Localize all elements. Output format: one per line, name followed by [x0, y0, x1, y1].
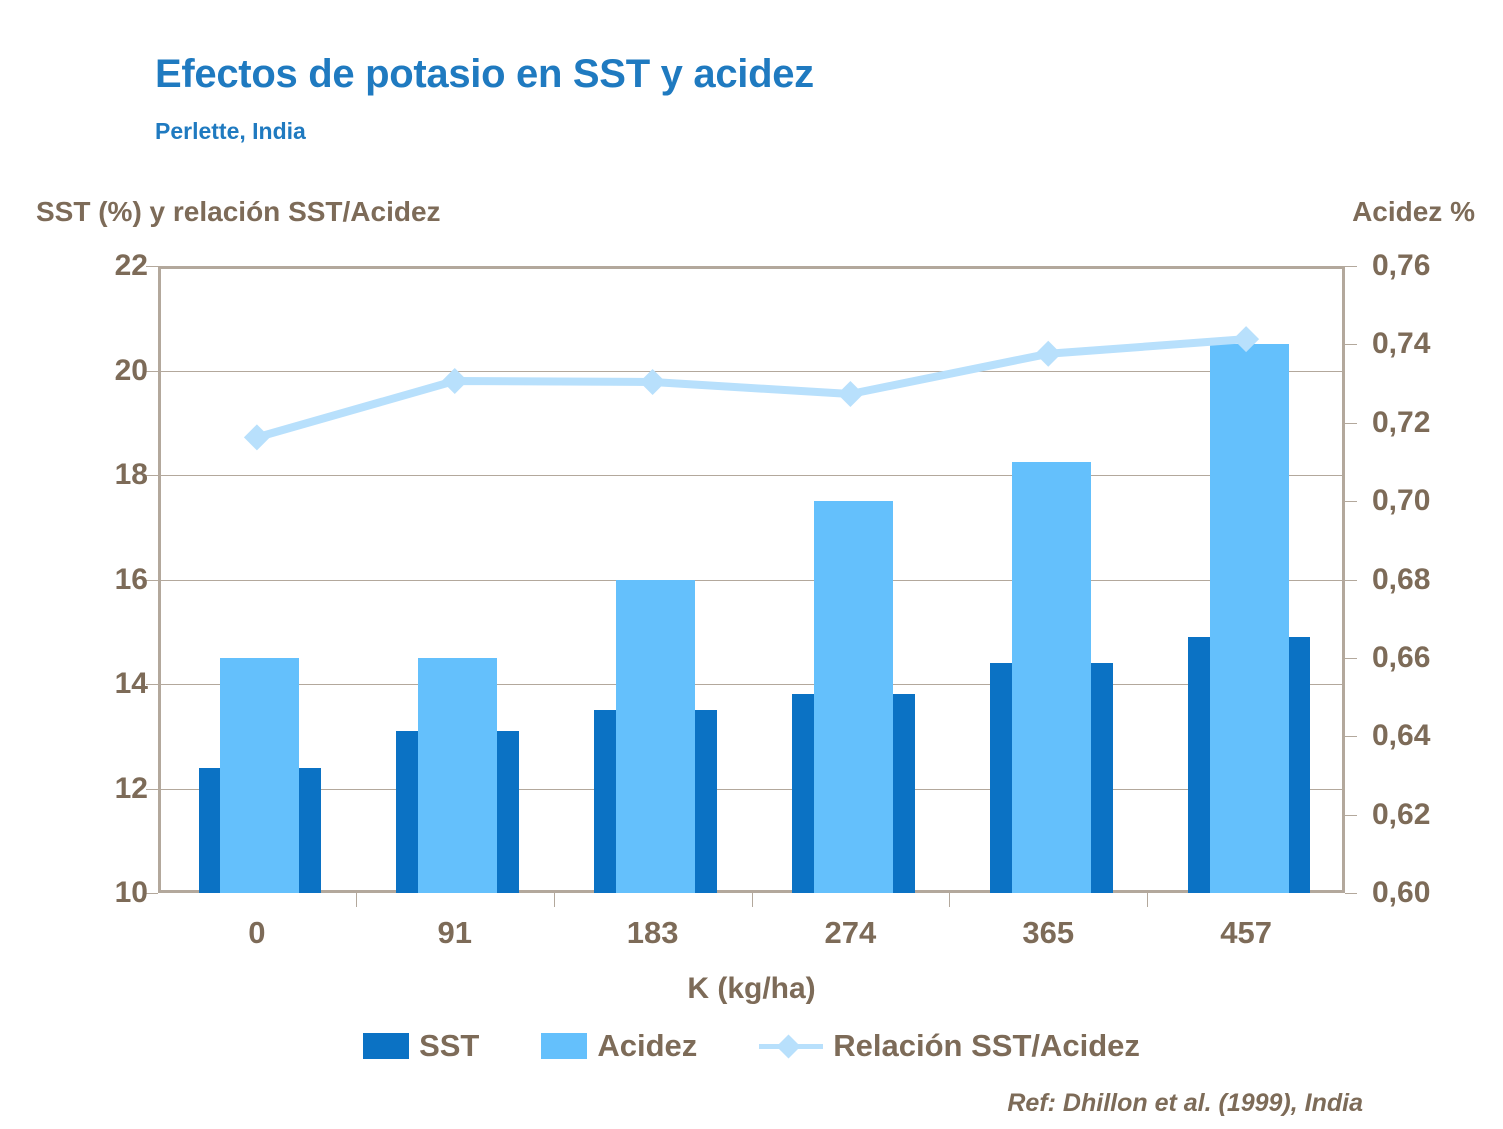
x-axis-tick-label: 365 — [1022, 915, 1074, 951]
chart-title: Efectos de potasio en SST y acidez — [155, 52, 814, 97]
left-axis-title: SST (%) y relación SST/Acidez — [36, 196, 441, 228]
y-axis-tick-label: 18 — [28, 458, 148, 492]
x-axis-tick — [752, 893, 753, 907]
x-axis-tick-label: 457 — [1220, 915, 1272, 951]
y2-axis-tick-label: 0,64 — [1372, 719, 1503, 753]
plot-area — [158, 266, 1345, 893]
chart-footnote: Ref: Dhillon et al. (1999), India — [1007, 1089, 1363, 1118]
y2-axis-tick-label: 0,74 — [1372, 327, 1503, 361]
y-axis-tick-label: 14 — [28, 667, 148, 701]
y2-axis-tick-label: 0,60 — [1372, 876, 1503, 910]
x-axis-tick-label: 274 — [825, 915, 877, 951]
y-axis-tick-label: 10 — [28, 876, 148, 910]
y2-axis-tick — [1345, 266, 1357, 267]
y2-axis-tick-label: 0,76 — [1372, 249, 1503, 283]
legend-label-acidez: Acidez — [597, 1028, 697, 1064]
gridline — [161, 475, 1342, 476]
x-axis-tick-label: 183 — [627, 915, 679, 951]
y-axis-tick-label: 12 — [28, 772, 148, 806]
y-axis-tick-label: 16 — [28, 563, 148, 597]
x-axis-tick — [949, 893, 950, 907]
gridline — [161, 371, 1342, 372]
bar-acidez[interactable] — [814, 501, 893, 893]
gridline — [161, 684, 1342, 685]
x-axis-title: K (kg/ha) — [0, 972, 1503, 1006]
chart-subtitle: Perlette, India — [155, 118, 306, 145]
gridline — [161, 580, 1342, 581]
y2-axis-tick — [1345, 344, 1357, 345]
bar-acidez[interactable] — [418, 658, 497, 893]
gridline — [161, 789, 1342, 790]
legend-label-relacion: Relación SST/Acidez — [833, 1028, 1140, 1064]
y2-axis-tick — [1345, 501, 1357, 502]
y2-axis-tick-label: 0,68 — [1372, 563, 1503, 597]
legend-item-acidez[interactable]: Acidez — [541, 1028, 697, 1064]
legend-swatch-icon-sst — [363, 1033, 409, 1059]
bar-acidez[interactable] — [1210, 344, 1289, 893]
y2-axis-tick — [1345, 815, 1357, 816]
legend-line-diamond-icon — [759, 1033, 823, 1059]
x-axis-tick — [356, 893, 357, 907]
y2-axis-tick-label: 0,72 — [1372, 406, 1503, 440]
y2-axis-tick-label: 0,66 — [1372, 641, 1503, 675]
bar-acidez[interactable] — [616, 580, 695, 894]
y2-axis-tick-label: 0,70 — [1372, 484, 1503, 518]
bar-acidez[interactable] — [220, 658, 299, 893]
y-axis-tick-label: 22 — [28, 249, 148, 283]
legend-swatch-icon-acidez — [541, 1033, 587, 1059]
y2-axis-tick — [1345, 736, 1357, 737]
x-axis-tick-label: 0 — [248, 915, 265, 951]
y2-axis-tick — [1345, 658, 1357, 659]
x-axis-tick-label: 91 — [438, 915, 472, 951]
y2-axis-tick — [1345, 580, 1357, 581]
y-axis-tick-label: 20 — [28, 354, 148, 388]
x-axis-tick — [554, 893, 555, 907]
y2-axis-tick-label: 0,62 — [1372, 798, 1503, 832]
bar-acidez[interactable] — [1012, 462, 1091, 893]
y2-axis-tick — [1345, 423, 1357, 424]
right-axis-title: Acidez % — [1352, 196, 1475, 228]
x-axis-tick — [1147, 893, 1148, 907]
chart-legend: SST Acidez Relación SST/Acidez — [0, 1028, 1503, 1064]
y2-axis-tick — [1345, 893, 1357, 894]
legend-item-relacion[interactable]: Relación SST/Acidez — [759, 1028, 1140, 1064]
legend-item-sst[interactable]: SST — [363, 1028, 479, 1064]
legend-label-sst: SST — [419, 1028, 479, 1064]
